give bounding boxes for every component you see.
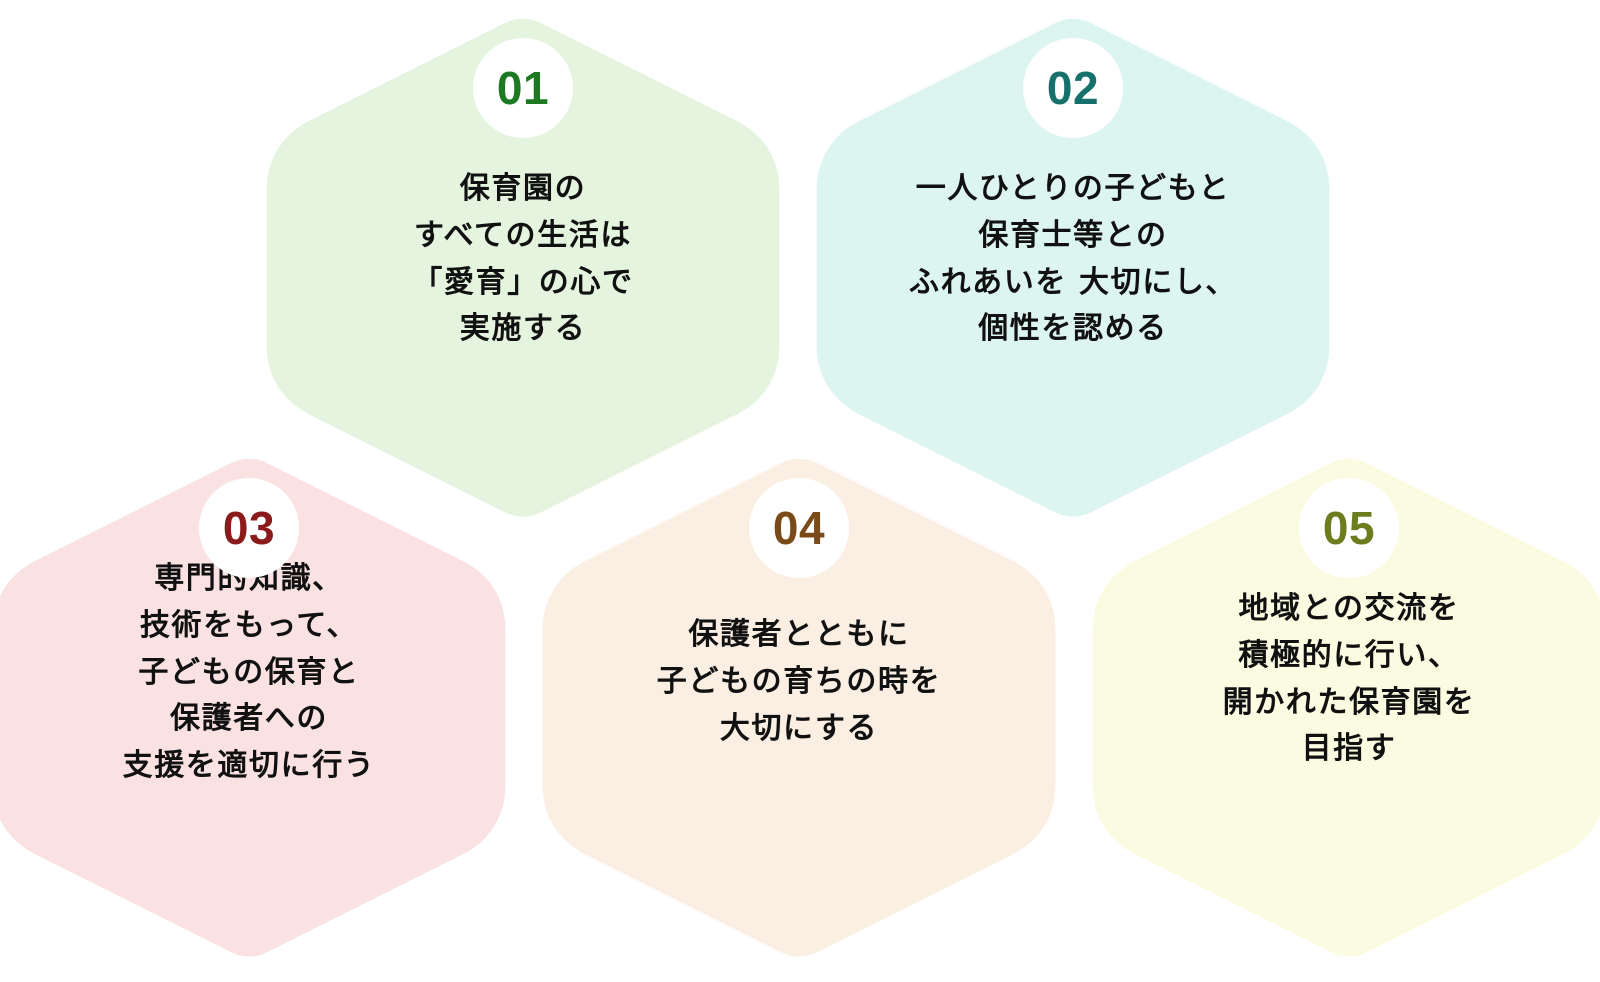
hexagon-text-04: 保護者とともに 子どもの育ちの時を 大切にする <box>534 612 1064 752</box>
hexagon-text-03: 専門的知識、 技術をもって、 子どもの保育と 保護者への 支援を適切に行う <box>0 556 514 790</box>
hexagon-card-04[interactable]: 04 保護者とともに 子どもの育ちの時を 大切にする <box>534 452 1064 964</box>
hexagon-card-03[interactable]: 03 専門的知識、 技術をもって、 子どもの保育と 保護者への 支援を適切に行う <box>0 452 514 964</box>
hexagon-infographic: 01 保育園の すべての生活は 「愛育」の心で 実施する 02 一人ひとりの子ど… <box>0 0 1600 982</box>
hexagon-text-02: 一人ひとりの子どもと 保育士等との ふれあいを 大切にし、 個性を認める <box>808 166 1338 353</box>
hexagon-text-05: 地域との交流を 積極的に行い、 開かれた保育園を 目指す <box>1084 586 1600 773</box>
number-badge-02: 02 <box>1023 38 1123 138</box>
hexagon-card-01[interactable]: 01 保育園の すべての生活は 「愛育」の心で 実施する <box>258 12 788 524</box>
hexagon-text-01: 保育園の すべての生活は 「愛育」の心で 実施する <box>258 166 788 353</box>
number-label-02: 02 <box>1047 65 1099 111</box>
number-label-01: 01 <box>497 65 549 111</box>
hexagon-card-02[interactable]: 02 一人ひとりの子どもと 保育士等との ふれあいを 大切にし、 個性を認める <box>808 12 1338 524</box>
number-badge-01: 01 <box>473 38 573 138</box>
hexagon-card-05[interactable]: 05 地域との交流を 積極的に行い、 開かれた保育園を 目指す <box>1084 452 1600 964</box>
